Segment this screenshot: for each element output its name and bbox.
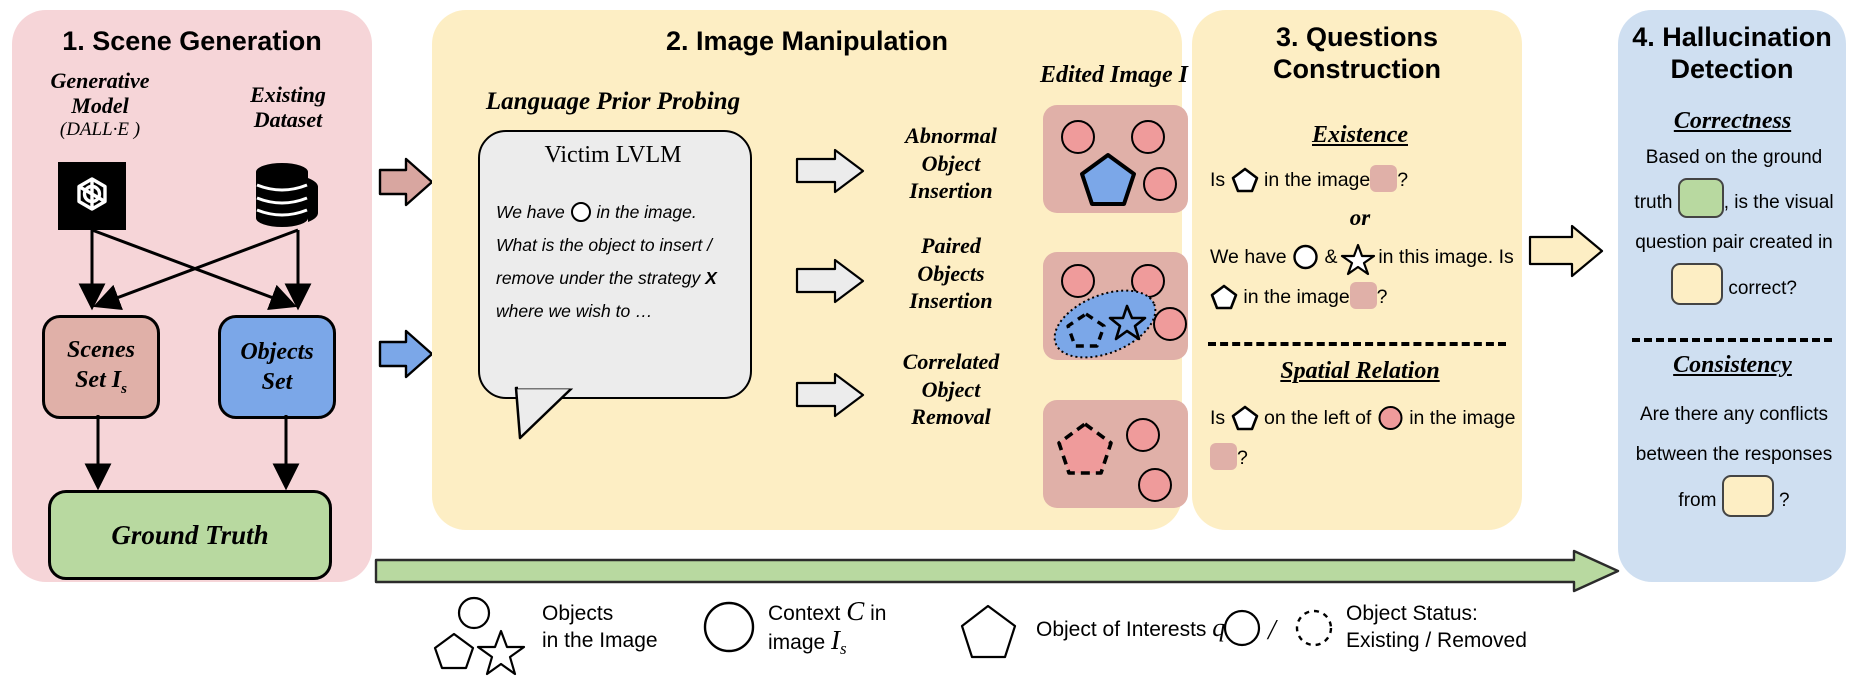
panel-4-title: 4. Hallucination Detection [1618, 22, 1846, 86]
panel-3-title: 3. Questions Construction [1192, 22, 1522, 86]
gray-arrow-1-icon [795, 148, 867, 194]
panel-1-title: 1. Scene Generation [22, 26, 362, 58]
legend-item-objects: Objects in the Image [542, 600, 702, 654]
pink-arrow-icon [378, 156, 436, 212]
question-chip [1722, 475, 1774, 517]
language-prior-probing-label: Language Prior Probing [458, 88, 768, 116]
scene-generation-arrows [12, 225, 372, 325]
scene-chip [1370, 165, 1397, 192]
correctness-heading: Correctness [1630, 108, 1835, 135]
filled-circle-icon [1377, 404, 1404, 431]
existing-dataset-label: Existing Dataset [208, 82, 368, 133]
gray-arrow-2-icon [795, 258, 867, 304]
consistency-heading: Consistency [1630, 352, 1835, 379]
object-circle [1126, 418, 1160, 452]
panel-3-dashed-divider [1208, 342, 1506, 346]
bubble-body-text: We have in the image. What is the object… [496, 196, 740, 328]
edited-image-thumbnail-3 [1043, 400, 1188, 508]
victim-lvlm-header: Victim LVLM [478, 142, 748, 169]
existence-heading: Existence [1215, 122, 1505, 149]
edited-image-thumbnail-2 [1043, 252, 1188, 360]
openai-logo-icon [58, 162, 126, 230]
scene-chip [1350, 282, 1377, 309]
scene-chip [1210, 443, 1237, 470]
ground-truth-flow-arrow [374, 550, 1624, 596]
legend-item-object-status: Object Status: Existing / Removed [1346, 600, 1576, 654]
circle-icon [570, 201, 592, 223]
inserted-pentagon-icon [1079, 151, 1139, 209]
strategy-correlated-object-removal-label: Correlated Object Removal [876, 348, 1026, 431]
pentagon-icon [1210, 283, 1238, 310]
yellow-arrow-icon [1528, 222, 1606, 280]
circle-pentagon-star-icons [432, 596, 524, 664]
consistency-body: Are there any conflicts between the resp… [1626, 395, 1842, 521]
ground-truth-chip [1678, 178, 1724, 218]
legend-item-context: Context C in image Is [768, 598, 948, 662]
pentagon-icon [958, 602, 1020, 660]
strategy-paired-objects-insertion-label: Paired Objects Insertion [876, 232, 1026, 315]
circle-icon [1292, 243, 1319, 270]
dalle-sub-label: (DALL·E ) [20, 119, 180, 141]
question-chip [1671, 263, 1723, 305]
object-circle [1138, 468, 1172, 502]
ground-truth-node: Ground Truth [48, 490, 332, 580]
spatial-relation-question: Is on the left of in the image? [1210, 398, 1518, 478]
spatial-relation-heading: Spatial Relation [1215, 358, 1505, 385]
svg-text:/: / [1266, 615, 1278, 646]
correctness-body: Based on the ground truth , is the visua… [1626, 138, 1842, 309]
paired-objects-region-icon [1048, 284, 1163, 362]
existence-question-2: We have & in this image. Is in the image… [1210, 237, 1515, 317]
pentagon-icon [1231, 166, 1259, 193]
existence-or-label: or [1215, 205, 1505, 231]
scenes-set-node: Scenes Set Is [42, 315, 160, 419]
removed-pentagon-icon [1055, 420, 1117, 478]
pentagon-icon [1231, 404, 1259, 431]
panel-4-dashed-divider [1632, 338, 1832, 342]
strategy-abnormal-object-insertion-label: Abnormal Object Insertion [876, 122, 1026, 205]
object-circle [1143, 167, 1177, 201]
object-circle [1061, 120, 1095, 154]
edited-image-thumbnail-1 [1043, 105, 1188, 213]
object-circle [1131, 120, 1165, 154]
generative-model-label: Generative Model (DALL·E ) [20, 68, 180, 140]
solid-dashed-circle-icons: / [1222, 606, 1332, 652]
existence-question-1: Is in the image? [1210, 160, 1520, 200]
database-icon [248, 158, 324, 234]
sets-to-ground-truth-arrows [12, 413, 372, 493]
blue-arrow-icon [378, 328, 436, 384]
star-icon [1343, 242, 1373, 270]
big-circle-icon [702, 600, 758, 656]
gray-arrow-3-icon [795, 372, 867, 418]
objects-set-node: Objects Set [218, 315, 336, 419]
panel-2-title: 2. Image Manipulation [432, 26, 1182, 58]
